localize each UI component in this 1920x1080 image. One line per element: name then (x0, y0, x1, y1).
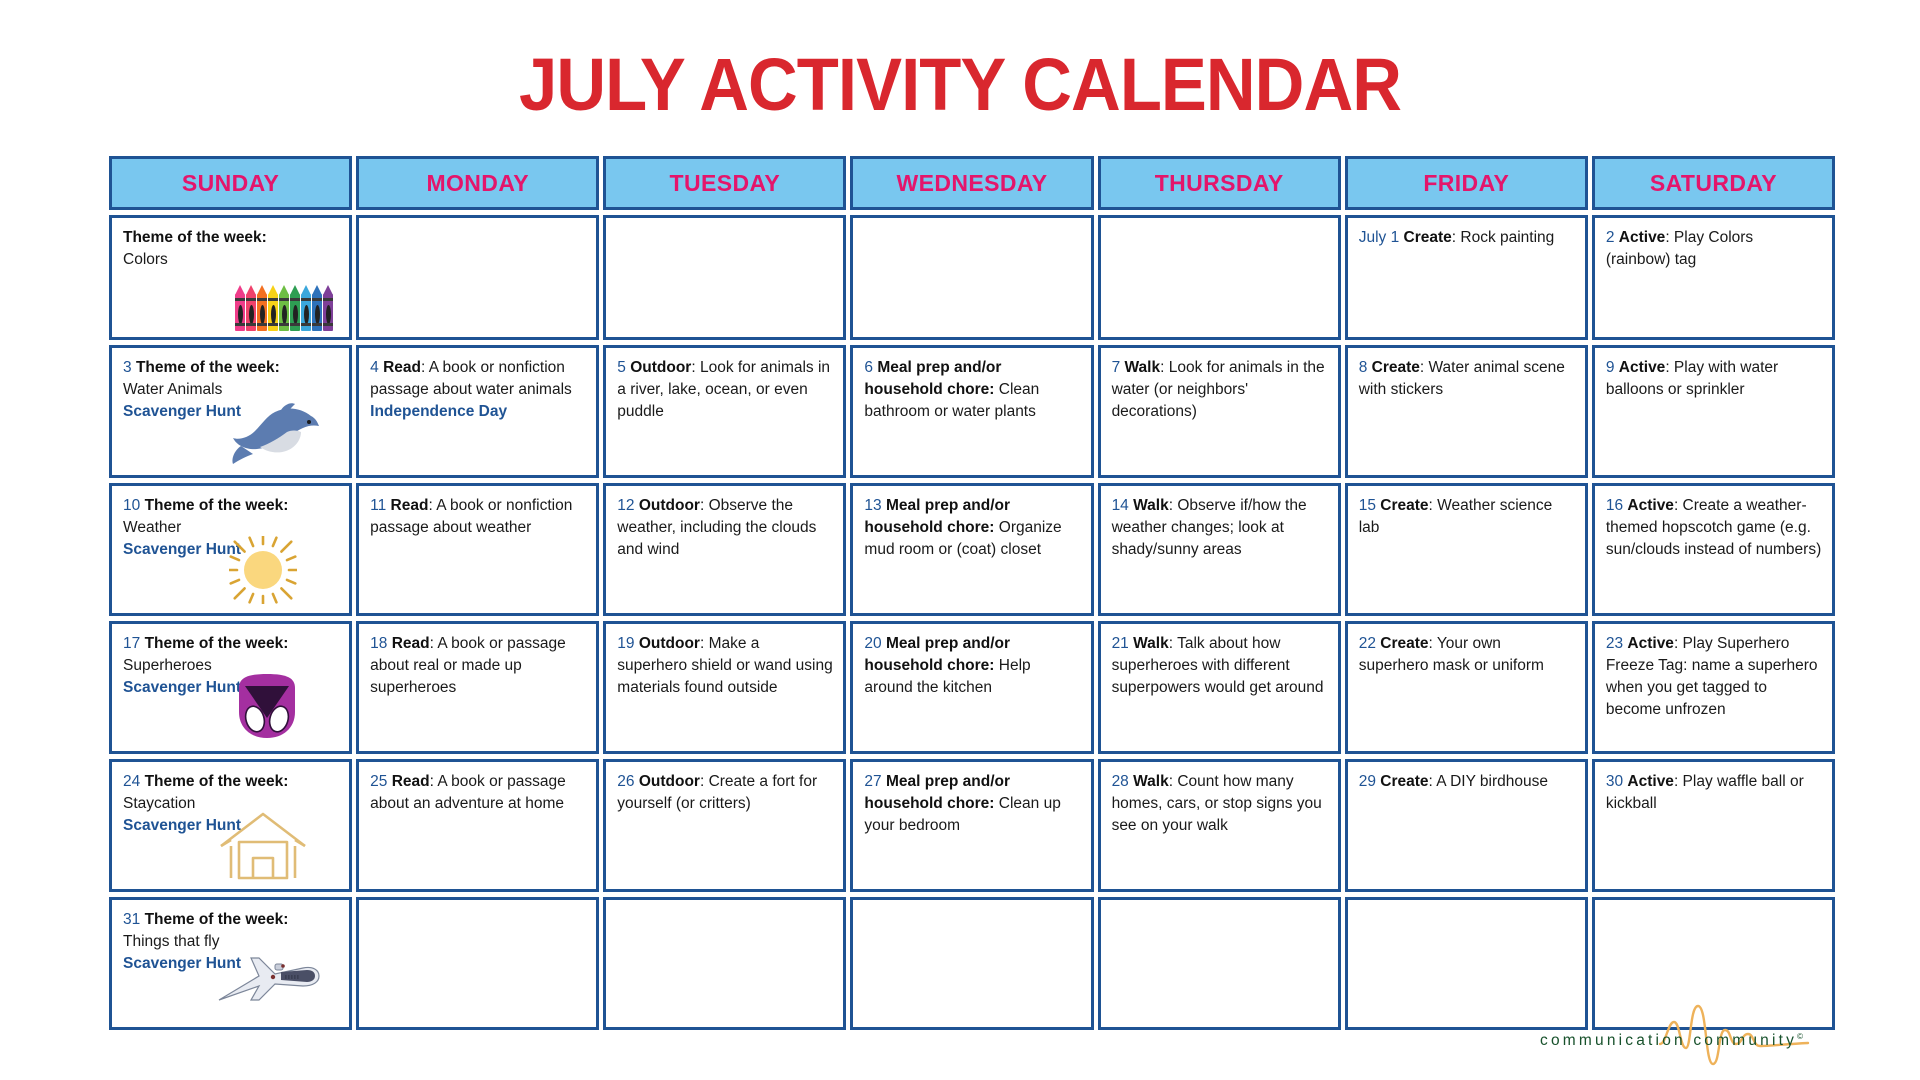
day-cell-content: 26 Outdoor: Create a fort for yourself (… (617, 771, 833, 815)
day-number: 2 (1606, 229, 1615, 246)
theme-label: Theme of the week: (145, 773, 289, 790)
calendar-day-cell[interactable] (356, 215, 599, 340)
activity-category: Walk (1125, 359, 1161, 376)
scavenger-hunt-link[interactable]: Scavenger Hunt (123, 817, 241, 834)
brand-logo-label: communication community (1540, 1032, 1797, 1049)
day-cell-content: 4 Read: A book or nonfiction passage abo… (370, 357, 586, 423)
day-cell-content: 27 Meal prep and/or household chore: Cle… (864, 771, 1080, 837)
calendar-day-cell[interactable]: 2 Active: Play Colors (rainbow) tag (1592, 215, 1835, 340)
day-cell-content: 25 Read: A book or passage about an adve… (370, 771, 586, 815)
calendar-day-cell[interactable]: 12 Outdoor: Observe the weather, includi… (603, 483, 846, 616)
scavenger-hunt-link[interactable]: Scavenger Hunt (123, 955, 241, 972)
calendar-day-cell[interactable]: 10 Theme of the week:WeatherScavenger Hu… (109, 483, 352, 616)
day-cell-content: 29 Create: A DIY birdhouse (1359, 771, 1575, 793)
day-number: 13 (864, 497, 881, 514)
day-cell-content: 14 Walk: Observe if/how the weather chan… (1112, 495, 1328, 561)
activity-category: Create (1404, 229, 1452, 246)
day-number: 10 (123, 497, 140, 514)
day-cell-content: 28 Walk: Count how many homes, cars, or … (1112, 771, 1328, 837)
day-number: 14 (1112, 497, 1129, 514)
day-cell-content: Theme of the week:Colors (123, 227, 339, 271)
weekday-header-monday: MONDAY (356, 156, 599, 210)
day-cell-content: 31 Theme of the week:Things that flyScav… (123, 909, 339, 975)
weekday-header-row: SUNDAY MONDAY TUESDAY WEDNESDAY THURSDAY… (109, 156, 1835, 210)
calendar-week-row: 3 Theme of the week:Water AnimalsScaveng… (109, 345, 1835, 478)
activity-category: Read (392, 635, 430, 652)
day-number: 16 (1606, 497, 1623, 514)
day-number: 17 (123, 635, 140, 652)
day-number: July 1 (1359, 229, 1400, 246)
activity-text: : Rock painting (1452, 229, 1555, 246)
day-cell-content: 12 Outdoor: Observe the weather, includi… (617, 495, 833, 561)
day-cell-content: 7 Walk: Look for animals in the water (o… (1112, 357, 1328, 423)
day-cell-content: July 1 Create: Rock painting (1359, 227, 1575, 249)
calendar-week-row: 10 Theme of the week:WeatherScavenger Hu… (109, 483, 1835, 616)
theme-value: Things that fly (123, 933, 220, 950)
calendar-day-cell[interactable]: 11 Read: A book or nonfiction passage ab… (356, 483, 599, 616)
weekday-header-tuesday: TUESDAY (603, 156, 846, 210)
activity-text: : A DIY birdhouse (1429, 773, 1549, 790)
brand-logo-text: communication community© (1540, 1032, 1803, 1050)
day-cell-content: 22 Create: Your own superhero mask or un… (1359, 633, 1575, 677)
day-number: 4 (370, 359, 379, 376)
calendar-day-cell[interactable]: 3 Theme of the week:Water AnimalsScaveng… (109, 345, 352, 478)
calendar-day-cell[interactable]: 14 Walk: Observe if/how the weather chan… (1098, 483, 1341, 616)
calendar-day-cell[interactable] (356, 897, 599, 1030)
day-cell-content: 18 Read: A book or passage about real or… (370, 633, 586, 699)
scavenger-hunt-link[interactable]: Scavenger Hunt (123, 541, 241, 558)
theme-value: Staycation (123, 795, 195, 812)
calendar-day-cell[interactable]: 26 Outdoor: Create a fort for yourself (… (603, 759, 846, 892)
day-number: 12 (617, 497, 634, 514)
calendar-day-cell[interactable]: 17 Theme of the week:SuperheroesScavenge… (109, 621, 352, 754)
activity-category: Active (1619, 229, 1666, 246)
day-cell-content: 16 Active: Create a weather-themed hopsc… (1606, 495, 1822, 561)
day-cell-content: 11 Read: A book or nonfiction passage ab… (370, 495, 586, 539)
calendar-day-cell[interactable]: 20 Meal prep and/or household chore: Hel… (850, 621, 1093, 754)
calendar-day-cell[interactable]: 5 Outdoor: Look for animals in a river, … (603, 345, 846, 478)
day-cell-content: 17 Theme of the week:SuperheroesScavenge… (123, 633, 339, 699)
activity-category: Walk (1133, 497, 1169, 514)
activity-category: Read (391, 497, 429, 514)
calendar-day-cell[interactable] (850, 215, 1093, 340)
page-title: JULY ACTIVITY CALENDAR (67, 0, 1853, 122)
theme-value: Colors (123, 251, 168, 268)
day-number: 23 (1606, 635, 1623, 652)
day-number: 28 (1112, 773, 1129, 790)
activity-category: Active (1627, 497, 1674, 514)
day-number: 8 (1359, 359, 1368, 376)
day-number: 18 (370, 635, 387, 652)
day-cell-content: 8 Create: Water animal scene with sticke… (1359, 357, 1575, 401)
calendar-day-cell[interactable]: 7 Walk: Look for animals in the water (o… (1098, 345, 1341, 478)
activity-category: Read (383, 359, 421, 376)
calendar-day-cell[interactable]: 13 Meal prep and/or household chore: Org… (850, 483, 1093, 616)
day-number: 27 (864, 773, 881, 790)
scavenger-hunt-link[interactable]: Scavenger Hunt (123, 679, 241, 696)
calendar-page: JULY ACTIVITY CALENDAR SUNDAY MONDAY TUE… (0, 0, 1920, 1080)
weekday-header-saturday: SATURDAY (1592, 156, 1835, 210)
calendar-day-cell[interactable]: 22 Create: Your own superhero mask or un… (1345, 621, 1588, 754)
day-number: 22 (1359, 635, 1376, 652)
activity-category: Create (1380, 497, 1428, 514)
weekday-header-sunday: SUNDAY (109, 156, 352, 210)
calendar-day-cell[interactable] (1098, 897, 1341, 1030)
calendar-day-cell[interactable]: 16 Active: Create a weather-themed hopsc… (1592, 483, 1835, 616)
calendar-grid: SUNDAY MONDAY TUESDAY WEDNESDAY THURSDAY… (109, 156, 1835, 1035)
day-cell-content: 2 Active: Play Colors (rainbow) tag (1606, 227, 1822, 271)
activity-category: Walk (1133, 635, 1169, 652)
activity-category: Read (392, 773, 430, 790)
day-cell-content: 20 Meal prep and/or household chore: Hel… (864, 633, 1080, 699)
weekday-header-friday: FRIDAY (1345, 156, 1588, 210)
calendar-day-cell[interactable] (603, 897, 846, 1030)
theme-value: Superheroes (123, 657, 212, 674)
day-number: 5 (617, 359, 626, 376)
calendar-day-cell[interactable]: 30 Active: Play waffle ball or kickball (1592, 759, 1835, 892)
calendar-day-cell[interactable]: 9 Active: Play with water balloons or sp… (1592, 345, 1835, 478)
weekday-header-thursday: THURSDAY (1098, 156, 1341, 210)
calendar-day-cell[interactable]: 25 Read: A book or passage about an adve… (356, 759, 599, 892)
day-number: 20 (864, 635, 881, 652)
calendar-day-cell[interactable]: 24 Theme of the week:StaycationScavenger… (109, 759, 352, 892)
day-cell-content: 19 Outdoor: Make a superhero shield or w… (617, 633, 833, 699)
day-cell-content: 23 Active: Play Superhero Freeze Tag: na… (1606, 633, 1822, 721)
calendar-day-cell[interactable]: Theme of the week:Colors (109, 215, 352, 340)
day-cell-content: 10 Theme of the week:WeatherScavenger Hu… (123, 495, 339, 561)
day-number: 24 (123, 773, 140, 790)
activity-category: Meal prep and/or household chore: (864, 773, 1010, 812)
day-number: 11 (370, 497, 386, 514)
activity-category: Create (1380, 773, 1428, 790)
calendar-day-cell[interactable]: 18 Read: A book or passage about real or… (356, 621, 599, 754)
day-number: 19 (617, 635, 634, 652)
calendar-day-cell[interactable]: 4 Read: A book or nonfiction passage abo… (356, 345, 599, 478)
activity-category: Active (1627, 635, 1674, 652)
activity-category: Create (1372, 359, 1420, 376)
brand-logo: communication community© (1540, 998, 1840, 1062)
crayons-icon (235, 285, 333, 331)
calendar-weeks: Theme of the week:ColorsJuly 1 Create: R… (109, 215, 1835, 1030)
theme-label: Theme of the week: (145, 911, 289, 928)
activity-category: Meal prep and/or household chore: (864, 359, 1001, 398)
calendar-day-cell[interactable]: July 1 Create: Rock painting (1345, 215, 1588, 340)
activity-category: Meal prep and/or household chore: (864, 635, 1010, 674)
day-number: 15 (1359, 497, 1376, 514)
activity-category: Meal prep and/or household chore: (864, 497, 1010, 536)
day-number: 21 (1112, 635, 1129, 652)
day-number: 3 (123, 359, 132, 376)
calendar-day-cell[interactable]: 29 Create: A DIY birdhouse (1345, 759, 1588, 892)
activity-category: Outdoor (630, 359, 691, 376)
day-number: 9 (1606, 359, 1615, 376)
theme-label: Theme of the week: (145, 635, 289, 652)
day-cell-content: 9 Active: Play with water balloons or sp… (1606, 357, 1822, 401)
calendar-day-cell[interactable] (850, 897, 1093, 1030)
day-cell-content: 15 Create: Weather science lab (1359, 495, 1575, 539)
calendar-day-cell[interactable]: 15 Create: Weather science lab (1345, 483, 1588, 616)
day-number: 30 (1606, 773, 1623, 790)
weekday-header-wednesday: WEDNESDAY (850, 156, 1093, 210)
calendar-week-row: 24 Theme of the week:StaycationScavenger… (109, 759, 1835, 892)
activity-category: Active (1627, 773, 1674, 790)
calendar-day-cell[interactable]: 8 Create: Water animal scene with sticke… (1345, 345, 1588, 478)
theme-label: Theme of the week: (145, 497, 289, 514)
day-cell-content: 30 Active: Play waffle ball or kickball (1606, 771, 1822, 815)
activity-category: Walk (1133, 773, 1169, 790)
calendar-day-cell[interactable] (1098, 215, 1341, 340)
theme-value: Water Animals (123, 381, 222, 398)
theme-value: Weather (123, 519, 181, 536)
day-cell-content: 3 Theme of the week:Water AnimalsScaveng… (123, 357, 339, 423)
activity-category: Outdoor (639, 773, 700, 790)
activity-category: Create (1380, 635, 1428, 652)
calendar-day-cell[interactable]: 27 Meal prep and/or household chore: Cle… (850, 759, 1093, 892)
holiday-link[interactable]: Independence Day (370, 403, 507, 420)
calendar-week-row: Theme of the week:ColorsJuly 1 Create: R… (109, 215, 1835, 340)
day-number: 29 (1359, 773, 1376, 790)
day-cell-content: 5 Outdoor: Look for animals in a river, … (617, 357, 833, 423)
activity-category: Outdoor (639, 635, 700, 652)
day-cell-content: 24 Theme of the week:StaycationScavenger… (123, 771, 339, 837)
calendar-day-cell[interactable]: 21 Walk: Talk about how superheroes with… (1098, 621, 1341, 754)
calendar-day-cell[interactable]: 28 Walk: Count how many homes, cars, or … (1098, 759, 1341, 892)
calendar-day-cell[interactable]: 31 Theme of the week:Things that flyScav… (109, 897, 352, 1030)
calendar-day-cell[interactable] (603, 215, 846, 340)
calendar-day-cell[interactable]: 23 Active: Play Superhero Freeze Tag: na… (1592, 621, 1835, 754)
theme-label: Theme of the week: (123, 229, 267, 246)
scavenger-hunt-link[interactable]: Scavenger Hunt (123, 403, 241, 420)
day-number: 25 (370, 773, 387, 790)
calendar-day-cell[interactable]: 6 Meal prep and/or household chore: Clea… (850, 345, 1093, 478)
brand-logo-tm: © (1797, 1032, 1803, 1041)
calendar-day-cell[interactable]: 19 Outdoor: Make a superhero shield or w… (603, 621, 846, 754)
calendar-week-row: 17 Theme of the week:SuperheroesScavenge… (109, 621, 1835, 754)
day-number: 26 (617, 773, 634, 790)
day-cell-content: 21 Walk: Talk about how superheroes with… (1112, 633, 1328, 699)
day-cell-content: 6 Meal prep and/or household chore: Clea… (864, 357, 1080, 423)
day-cell-content: 13 Meal prep and/or household chore: Org… (864, 495, 1080, 561)
theme-label: Theme of the week: (136, 359, 280, 376)
day-number: 6 (864, 359, 873, 376)
activity-category: Active (1619, 359, 1666, 376)
activity-category: Outdoor (639, 497, 700, 514)
day-number: 7 (1112, 359, 1121, 376)
day-number: 31 (123, 911, 140, 928)
